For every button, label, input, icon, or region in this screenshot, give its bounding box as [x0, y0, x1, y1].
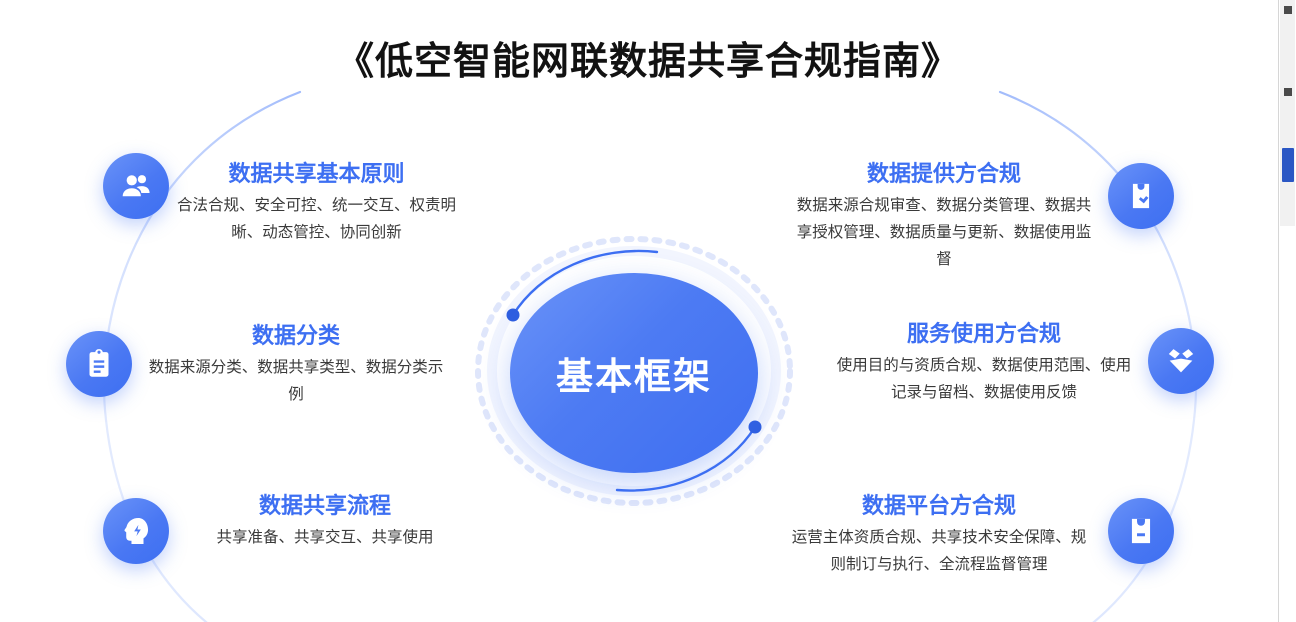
arc-endpoint-dot [507, 309, 520, 322]
item-data-sharing-principles: 数据共享基本原则 合法合规、安全可控、统一交互、权责明晰、动态管控、协同创新 [173, 160, 460, 246]
item-description: 数据来源分类、数据共享类型、数据分类示例 [146, 354, 446, 408]
clipboard-icon [82, 347, 116, 381]
item-heading: 数据共享流程 [176, 492, 474, 520]
page-title: 《低空智能网联数据共享合规指南》 [0, 30, 1296, 85]
center-label: 基本框架 [556, 346, 712, 400]
open-box-icon [1164, 344, 1198, 378]
item-heading: 数据平台方合规 [790, 492, 1088, 520]
document-check-icon [1124, 179, 1158, 213]
item-heading: 数据分类 [146, 322, 446, 350]
icon-bubble-data-platform-compliance[interactable] [1108, 498, 1174, 564]
item-heading: 数据共享基本原则 [173, 160, 460, 188]
arc-endpoint-dot [749, 421, 762, 434]
icon-bubble-data-classification[interactable] [66, 331, 132, 397]
item-data-platform-compliance: 数据平台方合规 运营主体资质合规、共享技术安全保障、规则制订与执行、全流程监督管… [790, 492, 1088, 578]
item-heading: 数据提供方合规 [795, 160, 1093, 188]
window-edge-strip [1278, 0, 1296, 622]
item-data-sharing-process: 数据共享流程 共享准备、共享交互、共享使用 [176, 492, 474, 551]
item-service-user-compliance: 服务使用方合规 使用目的与资质合规、数据使用范围、使用记录与留档、数据使用反馈 [835, 320, 1133, 406]
document-bar-icon [1124, 514, 1158, 548]
icon-bubble-data-sharing-principles[interactable] [103, 153, 169, 219]
users-icon [119, 169, 153, 203]
item-heading: 服务使用方合规 [835, 320, 1133, 348]
item-description: 合法合规、安全可控、统一交互、权责明晰、动态管控、协同创新 [173, 192, 460, 246]
head-bolt-icon [119, 514, 153, 548]
center-hub: 基本框架 [489, 255, 779, 487]
item-data-classification: 数据分类 数据来源分类、数据共享类型、数据分类示例 [146, 322, 446, 408]
scroll-marker-mid [1284, 88, 1292, 96]
icon-bubble-data-provider-compliance[interactable] [1108, 163, 1174, 229]
item-description: 使用目的与资质合规、数据使用范围、使用记录与留档、数据使用反馈 [835, 352, 1133, 406]
scrollbar-thumb[interactable] [1282, 148, 1294, 182]
icon-bubble-data-sharing-process[interactable] [103, 498, 169, 564]
scroll-marker-top [1284, 6, 1292, 14]
item-description: 共享准备、共享交互、共享使用 [176, 524, 474, 551]
infographic-canvas: 《低空智能网联数据共享合规指南》 基本框架 数据共享基本原则 合法合规、安全可控… [0, 0, 1296, 622]
item-description: 数据来源合规审查、数据分类管理、数据共享授权管理、数据质量与更新、数据使用监督 [795, 192, 1093, 273]
scrollbar-track[interactable] [1280, 0, 1295, 226]
icon-bubble-service-user-compliance[interactable] [1148, 328, 1214, 394]
item-data-provider-compliance: 数据提供方合规 数据来源合规审查、数据分类管理、数据共享授权管理、数据质量与更新… [795, 160, 1093, 273]
item-description: 运营主体资质合规、共享技术安全保障、规则制订与执行、全流程监督管理 [790, 524, 1088, 578]
center-circle: 基本框架 [510, 273, 758, 473]
